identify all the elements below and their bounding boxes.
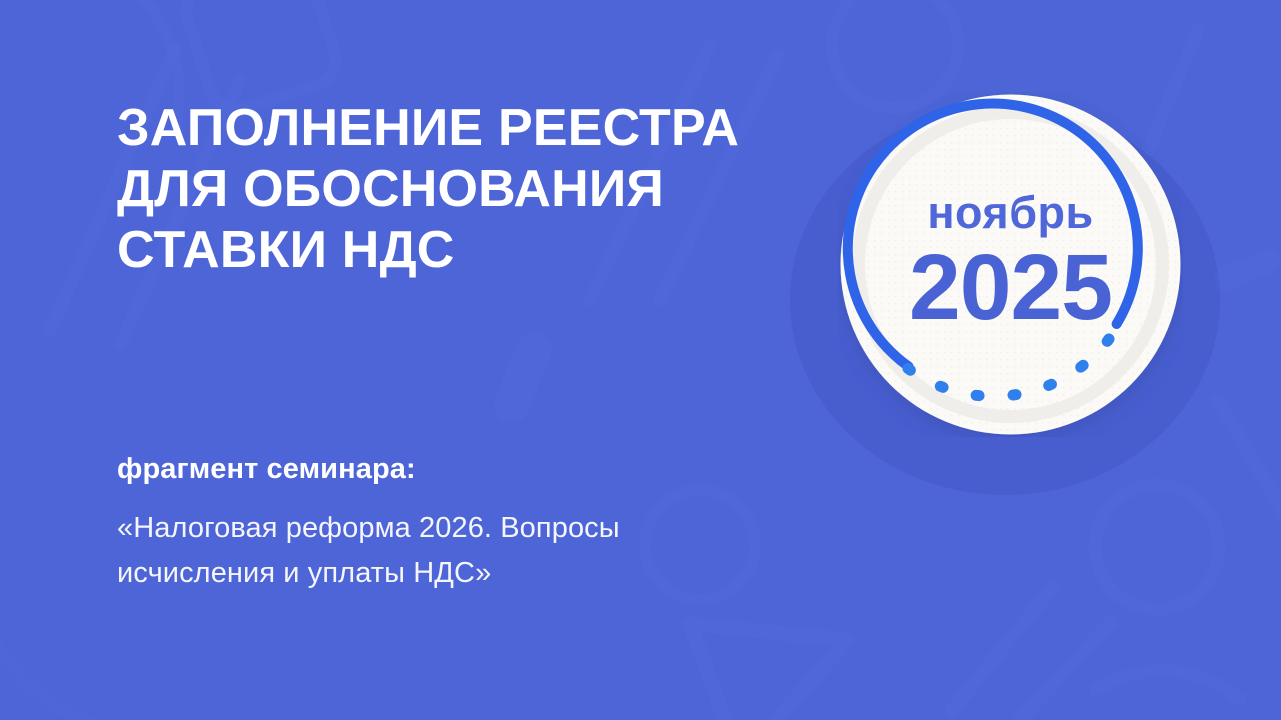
slide-content: ЗАПОЛНЕНИЕ РЕЕСТРА ДЛЯ ОБОСНОВАНИЯ СТАВК… (117, 0, 837, 720)
date-badge: ноябрь 2025 (838, 92, 1183, 437)
page-title: ЗАПОЛНЕНИЕ РЕЕСТРА ДЛЯ ОБОСНОВАНИЯ СТАВК… (117, 98, 817, 281)
pill-right (1210, 246, 1281, 294)
badge-month: ноябрь (927, 190, 1093, 235)
presentation-slide: ЗАПОЛНЕНИЕ РЕЕСТРА ДЛЯ ОБОСНОВАНИЯ СТАВК… (0, 0, 1281, 720)
seminar-title: «Налоговая реформа 2026. Вопросы исчисле… (117, 506, 777, 596)
seminar-fragment-label: фрагмент семинара: (117, 450, 777, 488)
slash-pair-bottom-right (952, 587, 1111, 720)
seminar-info: фрагмент семинара: «Налоговая реформа 20… (117, 450, 777, 596)
badge-text-group: ноябрь 2025 (838, 92, 1183, 437)
ring-small-bottom-right (1095, 485, 1219, 609)
badge-year: 2025 (909, 241, 1112, 334)
arc-bottom-right (1096, 671, 1240, 700)
slash-right-long (1218, 400, 1281, 520)
